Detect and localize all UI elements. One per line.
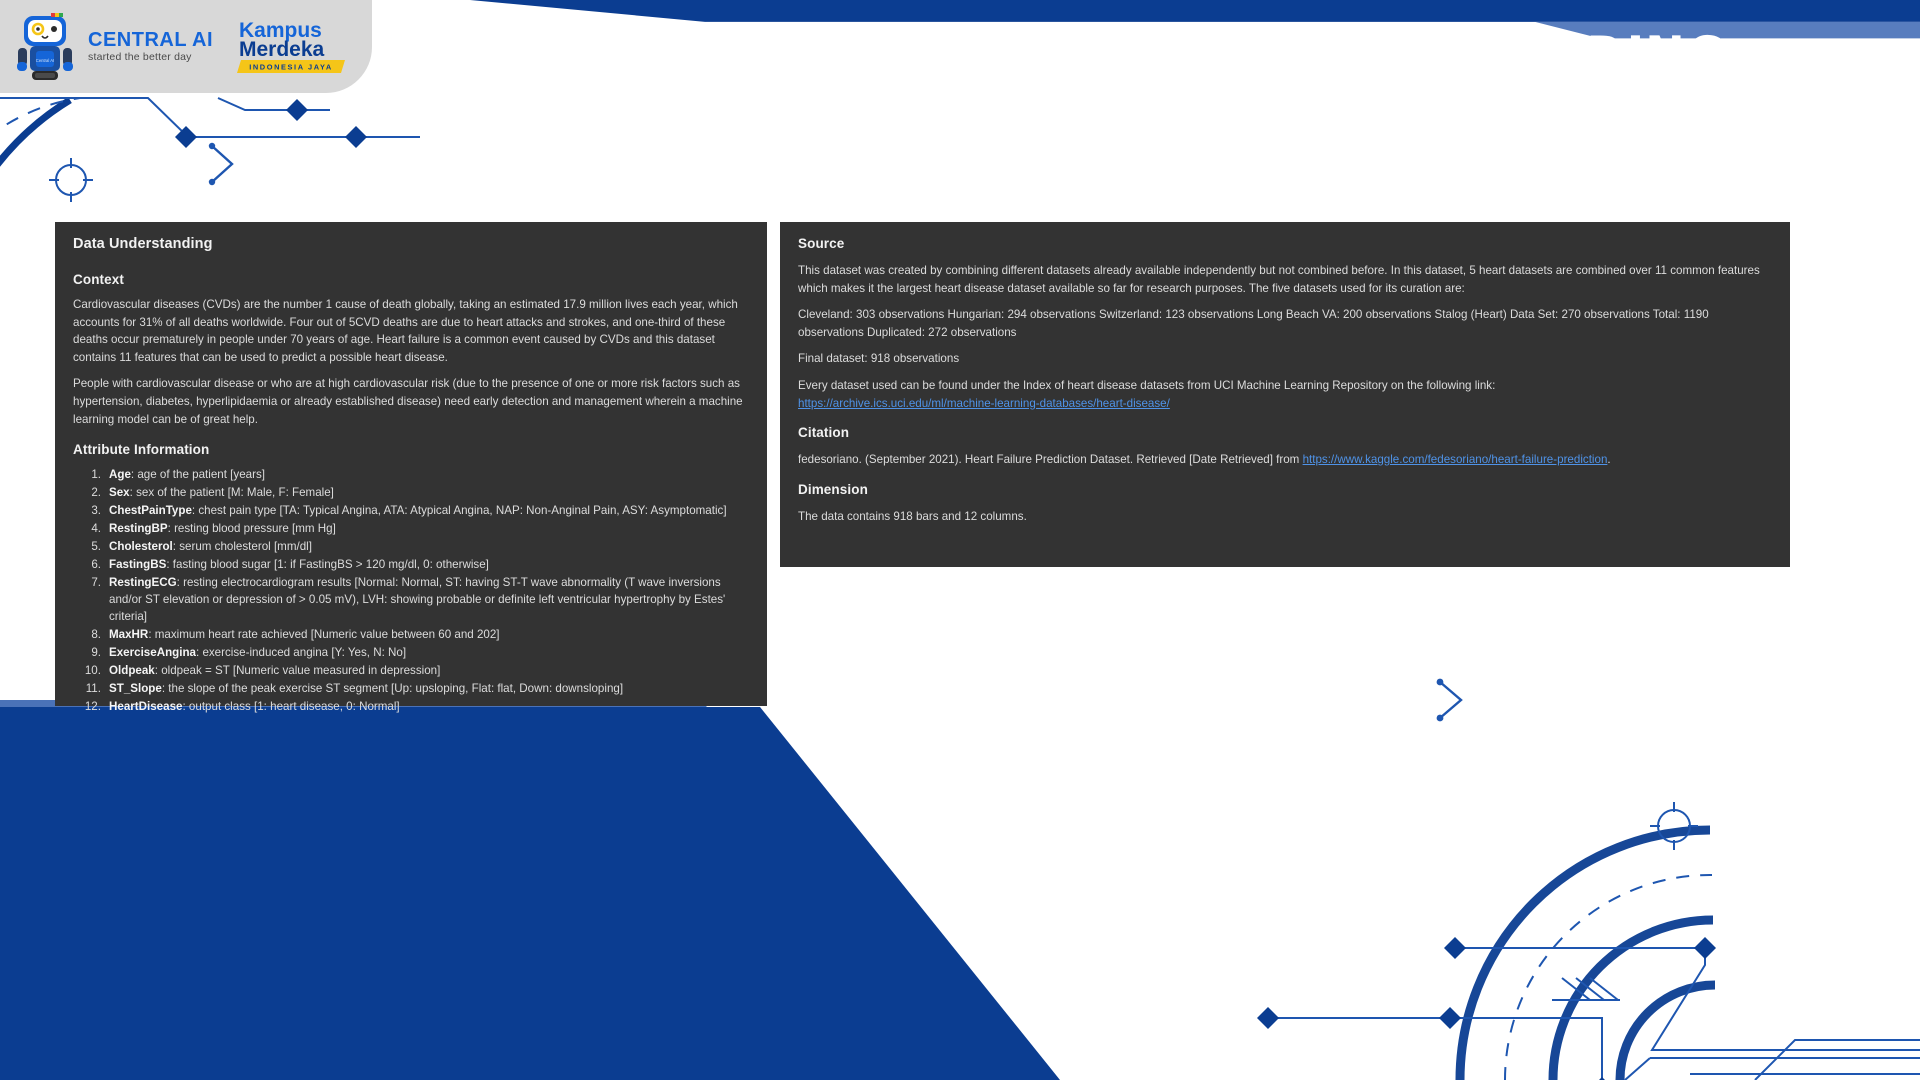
circuit-target-icon-right <box>1650 802 1698 850</box>
attribute-name: Age <box>109 468 131 481</box>
circuit-chevron-top <box>212 146 232 182</box>
indonesia-jaya-ribbon-text: INDONESIA JAYA <box>249 62 333 71</box>
kaggle-dataset-link[interactable]: https://www.kaggle.com/fedesoriano/heart… <box>1303 453 1608 466</box>
attribute-item: ExerciseAngina: exercise-induced angina … <box>73 644 749 661</box>
context-paragraph-1: Cardiovascular diseases (CVDs) are the n… <box>73 296 749 366</box>
context-heading: Context <box>73 272 749 287</box>
right-content-panel: Source This dataset was created by combi… <box>780 222 1790 567</box>
circuit-slashes-icon <box>1552 978 1620 1000</box>
attribute-desc: : fasting blood sugar [1: if FastingBS >… <box>166 558 489 571</box>
citation-text: fedesoriano. (September 2021). Heart Fai… <box>798 453 1303 466</box>
dimension-paragraph: The data contains 918 bars and 12 column… <box>798 508 1772 526</box>
attribute-desc: : output class [1: heart disease, 0: Nor… <box>182 700 399 713</box>
uci-repository-link[interactable]: https://archive.ics.uci.edu/ml/machine-l… <box>798 397 1170 410</box>
attribute-item: Cholesterol: serum cholesterol [mm/dl] <box>73 538 749 555</box>
attribute-item: Oldpeak: oldpeak = ST [Numeric value mea… <box>73 662 749 679</box>
attribute-item: FastingBS: fasting blood sugar [1: if Fa… <box>73 556 749 573</box>
attribute-name: RestingECG <box>109 576 177 589</box>
attribute-name: ChestPainType <box>109 504 192 517</box>
attribute-information-heading: Attribute Information <box>73 442 749 457</box>
central-ai-tagline: started the better day <box>88 51 213 64</box>
attribute-item: Age: age of the patient [years] <box>73 466 749 483</box>
observations-paragraph: Cleveland: 303 observations Hungarian: 2… <box>798 306 1772 341</box>
circuit-chevron-top-dots <box>209 143 215 185</box>
attribute-desc: : resting blood pressure [mm Hg] <box>168 522 336 535</box>
circuit-target-icon-left <box>49 158 93 202</box>
index-paragraph: Every dataset used can be found under th… <box>798 377 1772 395</box>
source-paragraph: This dataset was created by combining di… <box>798 262 1772 297</box>
attribute-item: MaxHR: maximum heart rate achieved [Nume… <box>73 626 749 643</box>
attribute-desc: : sex of the patient [M: Male, F: Female… <box>130 486 334 499</box>
citation-period: . <box>1607 453 1610 466</box>
circuit-node-diamonds-top <box>175 99 367 148</box>
final-dataset-paragraph: Final dataset: 918 observations <box>798 350 1772 368</box>
kampus-merdeka-logo: Kampus Merdeka INDONESIA JAYA <box>237 16 349 78</box>
attribute-desc: : serum cholesterol [mm/dl] <box>173 540 312 553</box>
brand-logo-pill: Central AI CENTRAL AI started the better… <box>0 0 372 93</box>
circuit-chevron-bottom <box>1440 682 1461 718</box>
robot-badge-text: Central AI <box>36 58 54 63</box>
context-paragraph-2: People with cardiovascular disease or wh… <box>73 375 749 428</box>
attribute-item: ST_Slope: the slope of the peak exercise… <box>73 680 749 697</box>
circuit-node-diamonds-bottom <box>1257 937 1716 1080</box>
left-content-panel: Data Understanding Context Cardiovascula… <box>55 222 767 706</box>
attribute-name: Oldpeak <box>109 664 155 677</box>
page-title: DATA UNDERSTANDING <box>1014 14 1806 104</box>
attribute-desc: : oldpeak = ST [Numeric value measured i… <box>155 664 441 677</box>
attribute-item: Sex: sex of the patient [M: Male, F: Fem… <box>73 484 749 501</box>
attribute-name: HeartDisease <box>109 700 182 713</box>
attribute-item: RestingECG: resting electrocardiogram re… <box>73 574 749 626</box>
attribute-desc: : exercise-induced angina [Y: Yes, N: No… <box>196 646 406 659</box>
attribute-item: ChestPainType: chest pain type [TA: Typi… <box>73 502 749 519</box>
dimension-heading: Dimension <box>798 482 1772 497</box>
circuit-chevron-bottom-dots <box>1437 679 1444 722</box>
attribute-name: MaxHR <box>109 628 148 641</box>
attribute-item: HeartDisease: output class [1: heart dis… <box>73 698 749 715</box>
index-link-line: https://archive.ics.uci.edu/ml/machine-l… <box>798 395 1772 413</box>
citation-heading: Citation <box>798 425 1772 440</box>
attribute-name: Sex <box>109 486 130 499</box>
central-ai-name: CENTRAL AI <box>88 30 213 51</box>
source-heading: Source <box>798 236 1772 251</box>
attribute-name: Cholesterol <box>109 540 173 553</box>
attribute-item: RestingBP: resting blood pressure [mm Hg… <box>73 520 749 537</box>
attribute-desc: : age of the patient [years] <box>131 468 265 481</box>
slide-root: Central AI CENTRAL AI started the better… <box>0 0 1920 1080</box>
attribute-desc: : chest pain type [TA: Typical Angina, A… <box>192 504 727 517</box>
attribute-name: ST_Slope <box>109 682 162 695</box>
footer-darkblue-shape <box>0 707 1060 1080</box>
attribute-name: RestingBP <box>109 522 168 535</box>
attribute-name: ExerciseAngina <box>109 646 196 659</box>
merdeka-text: Merdeka <box>239 38 325 61</box>
attribute-desc: : maximum heart rate achieved [Numeric v… <box>148 628 499 641</box>
attribute-desc: : the slope of the peak exercise ST segm… <box>162 682 623 695</box>
robot-mascot-icon: Central AI <box>14 10 76 84</box>
circuit-bottom-right <box>1270 830 1920 1080</box>
central-ai-wordmark: CENTRAL AI started the better day <box>88 30 213 64</box>
attribute-name: FastingBS <box>109 558 166 571</box>
attribute-list: Age: age of the patient [years] Sex: sex… <box>73 466 749 715</box>
panel-title: Data Understanding <box>73 236 749 252</box>
citation-paragraph: fedesoriano. (September 2021). Heart Fai… <box>798 451 1772 469</box>
attribute-desc: : resting electrocardiogram results [Nor… <box>109 576 725 624</box>
